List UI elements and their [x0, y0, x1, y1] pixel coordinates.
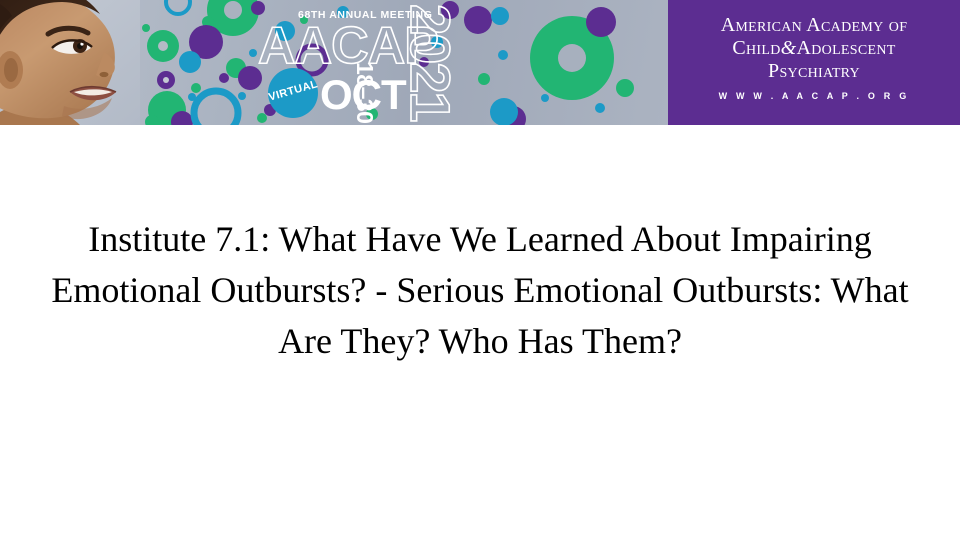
page-title: Institute 7.1: What Have We Learned Abou…	[42, 214, 918, 367]
dates-label: 18–30	[353, 62, 376, 123]
presentation-slide: 68TH ANNUAL MEETING AACAP VIRTUAL OCT 18…	[0, 0, 960, 540]
title-block: Institute 7.1: What Have We Learned Abou…	[42, 214, 918, 367]
logo-line-2-adolescent: Adolescent	[797, 37, 896, 59]
logo-line-3: Psychiatry	[668, 60, 960, 83]
logo-line-2: Child&Adolescent	[668, 37, 960, 60]
aacap-header-banner: 68TH ANNUAL MEETING AACAP VIRTUAL OCT 18…	[0, 0, 960, 125]
logo-line-2-child: Child	[732, 37, 780, 59]
year-label: 2021	[402, 4, 458, 121]
virtual-badge: VIRTUAL	[268, 68, 318, 118]
meeting-lockup: 68TH ANNUAL MEETING AACAP VIRTUAL OCT 18…	[258, 0, 468, 125]
child-photo	[0, 0, 140, 125]
aacap-logo-panel: American Academy of Child&Adolescent Psy…	[668, 0, 960, 125]
ampersand-icon: &	[781, 37, 797, 59]
child-portrait-icon	[0, 0, 140, 125]
logo-line-1: American Academy of	[668, 14, 960, 37]
aacap-logo-lockup: American Academy of Child&Adolescent Psy…	[668, 14, 960, 101]
logo-website-url: W W W . A A C A P . O R G	[668, 91, 960, 101]
virtual-badge-label: VIRTUAL	[267, 78, 318, 103]
